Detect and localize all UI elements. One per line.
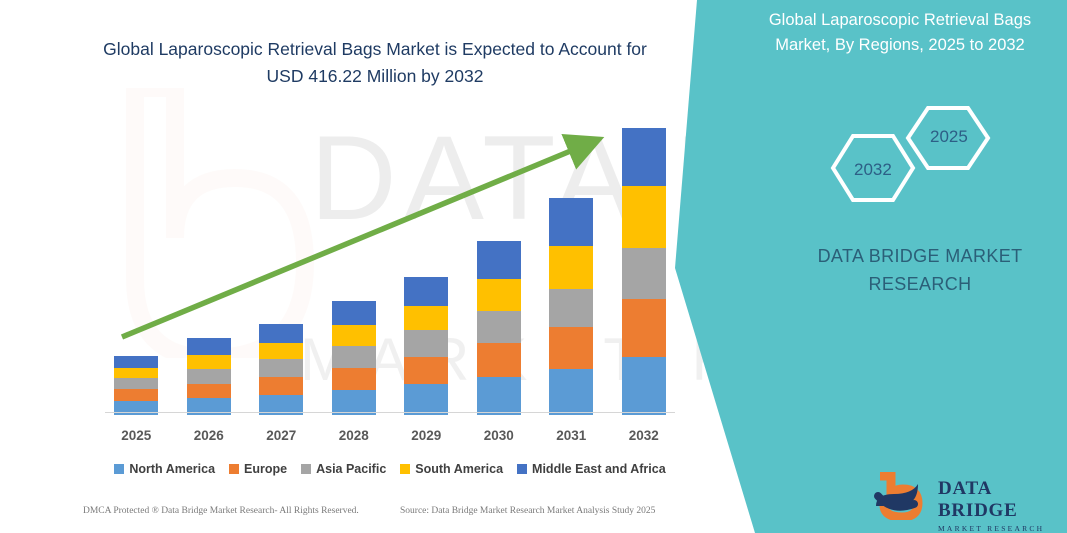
- x-axis-label-2030: 2030: [464, 428, 534, 443]
- bar-segment-asia-pacific: [477, 311, 521, 343]
- bar-segment-asia-pacific: [187, 369, 231, 384]
- bar-segment-north-america: [622, 357, 666, 415]
- bar-segment-europe: [622, 299, 666, 357]
- hexagon-2025-label: 2025: [930, 127, 968, 147]
- chart-title: Global Laparoscopic Retrieval Bags Marke…: [95, 36, 655, 90]
- legend-item-middle-east-and-africa[interactable]: Middle East and Africa: [517, 462, 666, 476]
- bar-segment-middle-east-and-africa: [622, 128, 666, 186]
- legend-item-north-america[interactable]: North America: [114, 462, 215, 476]
- bar-segment-europe: [259, 377, 303, 395]
- logo-subtitle: MARKET RESEARCH: [938, 524, 1067, 533]
- bar-2029: [404, 277, 448, 415]
- legend-item-europe[interactable]: Europe: [229, 462, 287, 476]
- bar-segment-south-america: [404, 306, 448, 330]
- bar-segment-europe: [404, 357, 448, 385]
- panel-brand-name: DATA BRIDGE MARKET RESEARCH: [790, 242, 1050, 298]
- bar-segment-south-america: [114, 368, 158, 377]
- legend-item-south-america[interactable]: South America: [400, 462, 503, 476]
- stacked-bar-chart: [100, 125, 680, 415]
- bar-segment-asia-pacific: [404, 330, 448, 356]
- legend-label: Asia Pacific: [316, 462, 386, 476]
- chart-axis-line: [105, 412, 675, 413]
- legend-label: North America: [129, 462, 215, 476]
- legend-label: South America: [415, 462, 503, 476]
- bar-2028: [332, 301, 376, 415]
- bar-segment-south-america: [187, 355, 231, 369]
- legend-swatch-icon: [229, 464, 239, 474]
- bar-segment-middle-east-and-africa: [187, 338, 231, 355]
- bar-segment-middle-east-and-africa: [332, 301, 376, 325]
- hexagon-group: 2025 2032: [820, 100, 1020, 210]
- panel-title: Global Laparoscopic Retrieval Bags Marke…: [745, 8, 1055, 58]
- bar-2030: [477, 241, 521, 415]
- bar-segment-asia-pacific: [332, 346, 376, 368]
- bar-segment-europe: [332, 368, 376, 390]
- logo-title: DATA BRIDGE: [938, 478, 1067, 522]
- bar-2025: [114, 356, 158, 415]
- footer-copyright: DMCA Protected ® Data Bridge Market Rese…: [83, 506, 359, 516]
- footer-source: Source: Data Bridge Market Research Mark…: [400, 506, 655, 516]
- bar-segment-middle-east-and-africa: [549, 198, 593, 246]
- x-axis-label-2029: 2029: [391, 428, 461, 443]
- bar-segment-south-america: [549, 246, 593, 289]
- chart-legend: North AmericaEuropeAsia PacificSouth Ame…: [100, 458, 680, 480]
- bar-segment-europe: [114, 389, 158, 401]
- bar-segment-south-america: [332, 325, 376, 345]
- bar-segment-middle-east-and-africa: [259, 324, 303, 343]
- bar-segment-europe: [187, 384, 231, 398]
- legend-swatch-icon: [301, 464, 311, 474]
- bar-2026: [187, 338, 231, 415]
- bar-segment-asia-pacific: [114, 378, 158, 390]
- legend-label: Europe: [244, 462, 287, 476]
- bar-segment-north-america: [404, 384, 448, 415]
- legend-item-asia-pacific[interactable]: Asia Pacific: [301, 462, 386, 476]
- bar-2027: [259, 324, 303, 415]
- x-axis-label-2026: 2026: [174, 428, 244, 443]
- legend-swatch-icon: [400, 464, 410, 474]
- bar-segment-north-america: [549, 369, 593, 415]
- bar-segment-south-america: [259, 343, 303, 359]
- bar-segment-middle-east-and-africa: [477, 241, 521, 279]
- legend-swatch-icon: [517, 464, 527, 474]
- bar-segment-middle-east-and-africa: [404, 277, 448, 306]
- bar-segment-middle-east-and-africa: [114, 356, 158, 369]
- hexagon-2032-label: 2032: [854, 160, 892, 180]
- x-axis-label-2031: 2031: [536, 428, 606, 443]
- x-axis-label-2027: 2027: [246, 428, 316, 443]
- legend-label: Middle East and Africa: [532, 462, 666, 476]
- bar-segment-south-america: [477, 279, 521, 311]
- logo-text: DATA BRIDGE MARKET RESEARCH: [938, 478, 1067, 533]
- bar-segment-asia-pacific: [259, 359, 303, 377]
- legend-swatch-icon: [114, 464, 124, 474]
- bar-segment-europe: [477, 343, 521, 377]
- footer: DMCA Protected ® Data Bridge Market Rese…: [0, 506, 700, 526]
- x-axis-label-2028: 2028: [319, 428, 389, 443]
- bar-segment-north-america: [477, 377, 521, 415]
- bar-2032: [622, 128, 666, 415]
- bar-segment-asia-pacific: [622, 248, 666, 299]
- bar-2031: [549, 198, 593, 415]
- bar-segment-europe: [549, 327, 593, 368]
- x-axis-label-2032: 2032: [609, 428, 679, 443]
- chart-x-axis-labels: 20252026202720282029203020312032: [100, 428, 680, 448]
- infographic-canvas: DATA BRIDGE MARKET RESEARCH Global Lapar…: [0, 0, 1067, 533]
- bar-segment-asia-pacific: [549, 289, 593, 327]
- bar-segment-south-america: [622, 186, 666, 247]
- x-axis-label-2025: 2025: [101, 428, 171, 443]
